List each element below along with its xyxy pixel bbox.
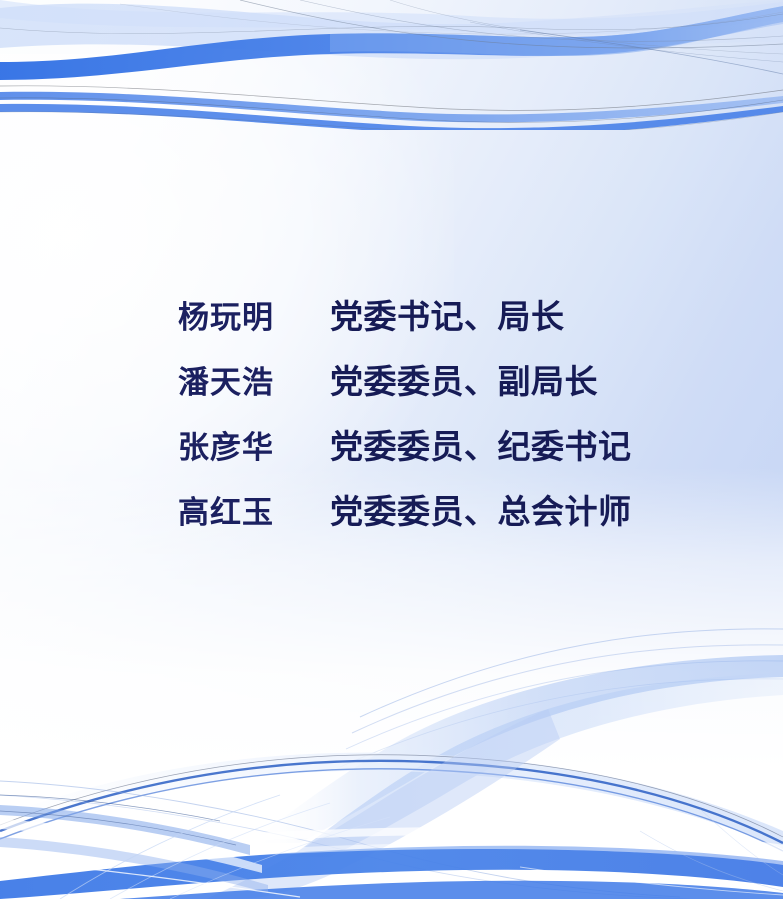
person-title: 党委书记、局长 (330, 290, 565, 338)
person-name: 高红玉 (178, 487, 330, 532)
person-name: 张彦华 (178, 422, 330, 467)
person-title: 党委委员、副局长 (330, 355, 598, 403)
person-title: 党委委员、总会计师 (330, 485, 632, 533)
person-name: 潘天浩 (178, 357, 330, 402)
roster-row: 潘天浩 党委委员、副局长 (178, 355, 783, 420)
roster-row: 高红玉 党委委员、总会计师 (178, 485, 783, 550)
presentation-slide: 杨玩明 党委书记、局长 潘天浩 党委委员、副局长 张彦华 党委委员、纪委书记 高… (0, 0, 783, 899)
person-name: 杨玩明 (178, 292, 330, 337)
leadership-roster-list: 杨玩明 党委书记、局长 潘天浩 党委委员、副局长 张彦华 党委委员、纪委书记 高… (0, 290, 783, 550)
roster-row: 张彦华 党委委员、纪委书记 (178, 420, 783, 485)
roster-row: 杨玩明 党委书记、局长 (178, 290, 783, 355)
person-title: 党委委员、纪委书记 (330, 420, 632, 468)
